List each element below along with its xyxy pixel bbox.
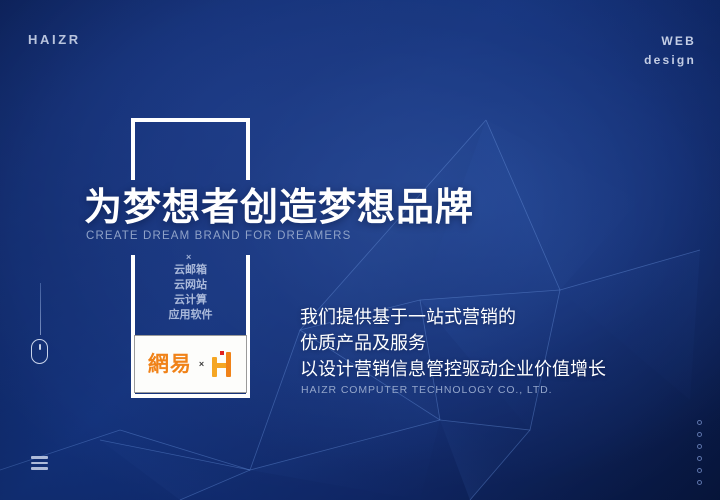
- frame-top-edge: [131, 118, 250, 122]
- pitch-line-3: 以设计营销信息管控驱动企业价值增长: [300, 357, 606, 383]
- background-vignette: [0, 0, 720, 500]
- pagination-dot[interactable]: [697, 432, 702, 437]
- topright-label: WEB design: [644, 32, 696, 70]
- page-subtitle: CREATE DREAM BRAND FOR DREAMERS: [86, 230, 351, 242]
- pagination-dot[interactable]: [697, 456, 702, 461]
- feature-item-cloud-mail[interactable]: 云邮箱: [131, 263, 250, 278]
- pagination-dot[interactable]: [697, 444, 702, 449]
- partner-logo-box[interactable]: 網易 ×: [134, 335, 247, 393]
- h-red-dot: [220, 351, 224, 355]
- pagination-dots[interactable]: [697, 420, 702, 485]
- pagination-dot[interactable]: [697, 480, 702, 485]
- pitch-paragraph: 我们提供基于一站式营销的 优质产品及服务 以设计营销信息管控驱动企业价值增长: [300, 305, 606, 383]
- netease-logo-text: 網易: [148, 354, 192, 375]
- hamburger-bar: [31, 462, 48, 465]
- topright-line-web: WEB: [644, 32, 696, 51]
- scroll-rail-line: [40, 283, 41, 335]
- hamburger-bar: [31, 467, 48, 470]
- pitch-line-1: 我们提供基于一站式营销的: [300, 305, 606, 331]
- brand-logo-haizr[interactable]: HAIZR: [28, 32, 81, 47]
- feature-item-cloud-site[interactable]: 云网站: [131, 278, 250, 293]
- logo-separator-x: ×: [199, 360, 204, 369]
- page-title: 为梦想者创造梦想品牌: [84, 185, 474, 229]
- h-right-stem: [226, 352, 231, 377]
- pagination-dot[interactable]: [697, 420, 702, 425]
- pitch-line-2: 优质产品及服务: [300, 331, 606, 357]
- hamburger-menu-icon[interactable]: [31, 456, 48, 470]
- topright-line-design: design: [644, 51, 696, 70]
- pagination-dot[interactable]: [697, 468, 702, 473]
- feature-item-cloud-compute[interactable]: 云计算: [131, 293, 250, 308]
- hamburger-bar: [31, 456, 48, 459]
- company-name-english: HAIZR COMPUTER TECHNOLOGY CO., LTD.: [301, 384, 552, 396]
- frame-right-upper: [246, 118, 250, 180]
- frame-left-upper: [131, 118, 135, 180]
- feature-item-app-software[interactable]: 应用软件: [131, 308, 250, 323]
- mouse-scroll-icon[interactable]: [31, 339, 48, 364]
- feature-separator-mark: ×: [186, 252, 191, 262]
- haizr-h-mark-icon: [211, 351, 233, 377]
- feature-list: 云邮箱 云网站 云计算 应用软件: [131, 263, 250, 323]
- frame-bottom-edge: [131, 394, 250, 398]
- hero-banner: HAIZR WEB design × 云邮箱 云网站 云计算 应用软件: [0, 0, 720, 500]
